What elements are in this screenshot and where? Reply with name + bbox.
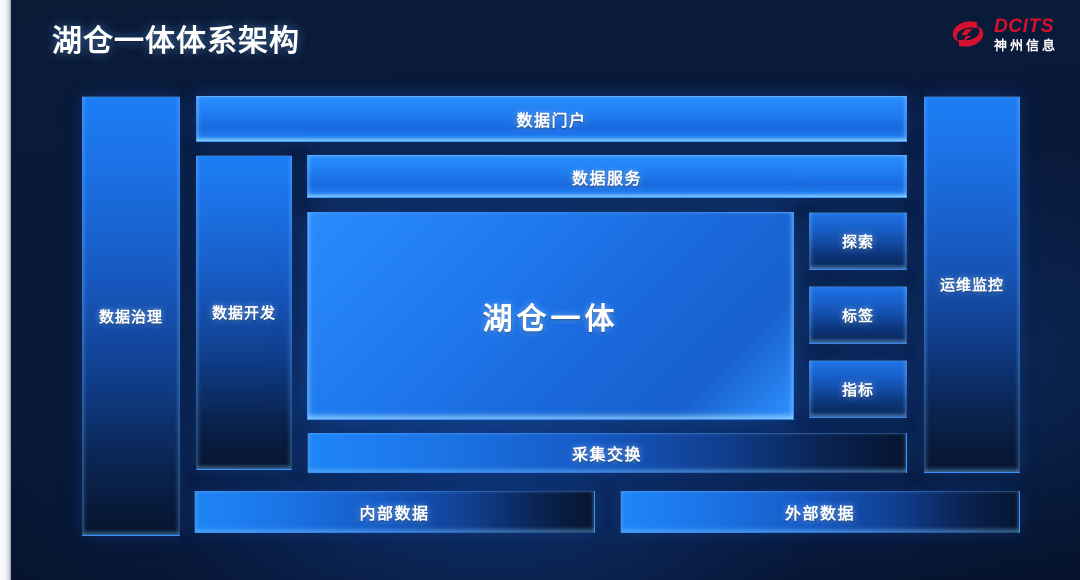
logo-cn-text: 神州信息 [994, 39, 1058, 52]
chip-metric[interactable]: 指标 [809, 360, 907, 418]
slide-header: 湖仓一体体系架构 DCITS 神州信息 [0, 0, 1080, 78]
dcits-logo: DCITS 神州信息 [949, 12, 1058, 56]
bar-external-data[interactable]: 外部数据 [620, 491, 1020, 533]
slide-canvas: 湖仓一体体系架构 DCITS 神州信息 数据治理 数据开发 运维监控 数据门户 … [0, 0, 1080, 580]
column-data-governance[interactable]: 数据治理 [82, 96, 180, 536]
column-data-development[interactable]: 数据开发 [196, 155, 292, 470]
bar-collect-exchange[interactable]: 采集交换 [307, 433, 907, 473]
bar-internal-data[interactable]: 内部数据 [194, 491, 595, 533]
bar-data-service[interactable]: 数据服务 [307, 155, 907, 198]
chip-explore[interactable]: 探索 [809, 212, 907, 270]
block-lakehouse[interactable]: 湖仓一体 [307, 212, 794, 420]
chip-tag[interactable]: 标签 [809, 286, 907, 344]
page-left-edge [0, 0, 11, 580]
bar-data-portal[interactable]: 数据门户 [196, 96, 907, 142]
column-ops-monitoring[interactable]: 运维监控 [924, 96, 1020, 473]
page-title: 湖仓一体体系架构 [52, 16, 300, 60]
dcits-swirl-icon [949, 17, 987, 51]
logo-text-group: DCITS 神州信息 [994, 17, 1058, 52]
logo-en-text: DCITS [994, 17, 1058, 36]
